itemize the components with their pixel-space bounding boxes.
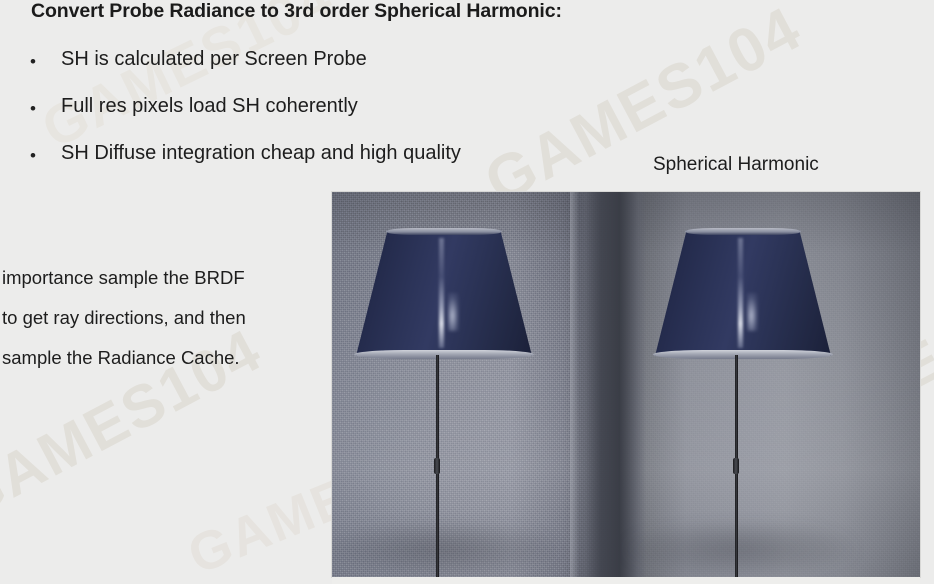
bullet-dot-icon: • (30, 147, 36, 164)
wall-corner-edge (572, 192, 620, 577)
render-panel-spherical-harmonic (620, 192, 920, 577)
side-note-line: importance sample the BRDF (2, 258, 332, 298)
side-note-text: importance sample the BRDF to get ray di… (2, 258, 332, 378)
side-note-line: to get ray directions, and then (2, 298, 332, 338)
render-panel-reference (332, 192, 620, 577)
image-bottom-margin (332, 577, 920, 584)
lamp-floor-shadow (332, 522, 557, 576)
side-note-line: sample the Radiance Cache. (2, 338, 332, 378)
lamp-shade-top-rim (386, 228, 502, 235)
page-title: Convert Probe Radiance to 3rd order Sphe… (31, 0, 562, 23)
list-item: • SH is calculated per Screen Probe (28, 48, 648, 95)
wall-corner-edge (620, 192, 646, 577)
lamp-shade-body (655, 230, 831, 356)
bullet-list: • SH is calculated per Screen Probe • Fu… (28, 48, 648, 189)
list-item: • Full res pixels load SH coherently (28, 95, 648, 142)
lamp-shade-bottom-rim (653, 350, 833, 359)
presentation-slide: GAMES104 GAMES104 GAMES104 GAMES104 GAME… (0, 0, 934, 584)
lamp-shade (356, 230, 532, 356)
lamp-pole-joint (434, 458, 440, 474)
lamp-shade-body (356, 230, 532, 356)
lamp-pole-joint (733, 458, 739, 474)
lamp-shade-specular-blob (747, 293, 758, 331)
bullet-text: Full res pixels load SH coherently (61, 95, 358, 118)
lamp-shade (655, 230, 831, 356)
spherical-harmonic-caption: Spherical Harmonic (653, 154, 819, 176)
list-item: • SH Diffuse integration cheap and high … (28, 142, 648, 189)
bullet-dot-icon: • (30, 100, 36, 117)
lamp-floor-shadow (625, 522, 855, 576)
bullet-text: SH is calculated per Screen Probe (61, 48, 367, 71)
bullet-text: SH Diffuse integration cheap and high qu… (61, 142, 461, 165)
lamp-comparison-image (332, 192, 920, 577)
lamp-shade-specular-highlight (738, 238, 743, 349)
lamp-shade-specular-highlight (439, 238, 444, 349)
lamp-shade-bottom-rim (354, 350, 534, 359)
bullet-dot-icon: • (30, 53, 36, 70)
lamp-shade-top-rim (685, 228, 801, 235)
lamp-shade-specular-blob (448, 293, 459, 331)
